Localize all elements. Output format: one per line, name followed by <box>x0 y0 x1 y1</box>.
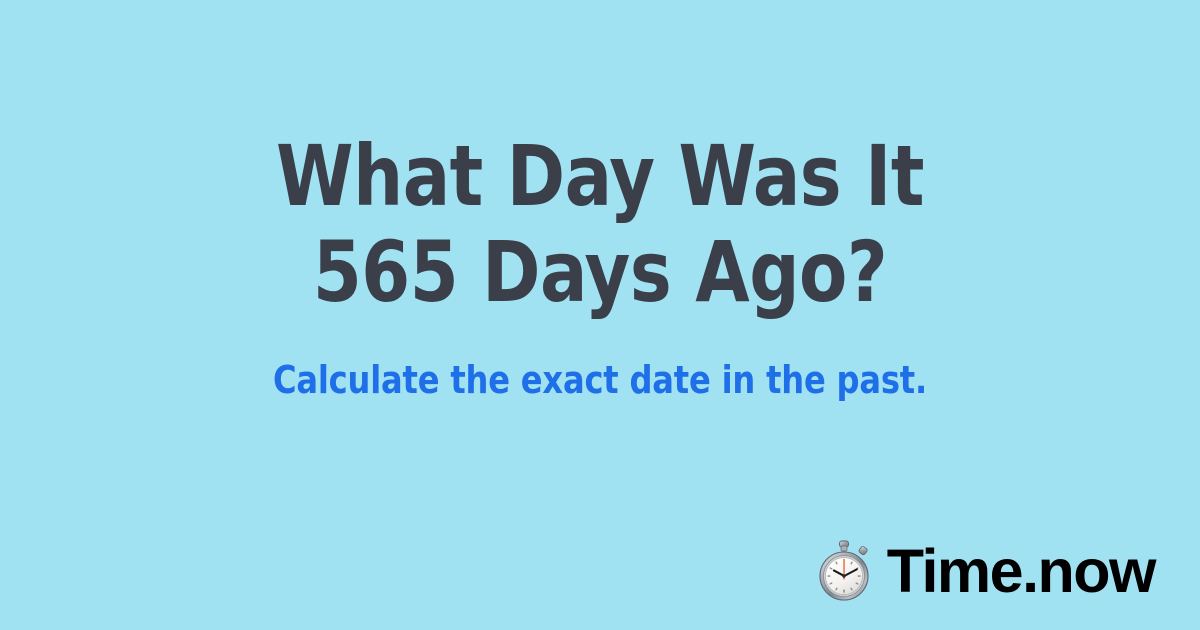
page-title: What Day Was It 565 Days Ago? <box>42 128 1158 320</box>
brand-logo[interactable]: Time.now <box>815 540 1155 602</box>
hero-block: What Day Was It 565 Days Ago? Calculate … <box>0 128 1200 402</box>
stopwatch-icon <box>815 540 873 602</box>
social-share-card: What Day Was It 565 Days Ago? Calculate … <box>0 0 1200 630</box>
page-title-line-1: What Day Was It <box>42 128 1158 224</box>
brand-name: Time.now <box>887 540 1155 602</box>
page-subtitle: Calculate the exact date in the past. <box>36 320 1164 402</box>
page-title-line-2: 565 Days Ago? <box>42 224 1158 320</box>
